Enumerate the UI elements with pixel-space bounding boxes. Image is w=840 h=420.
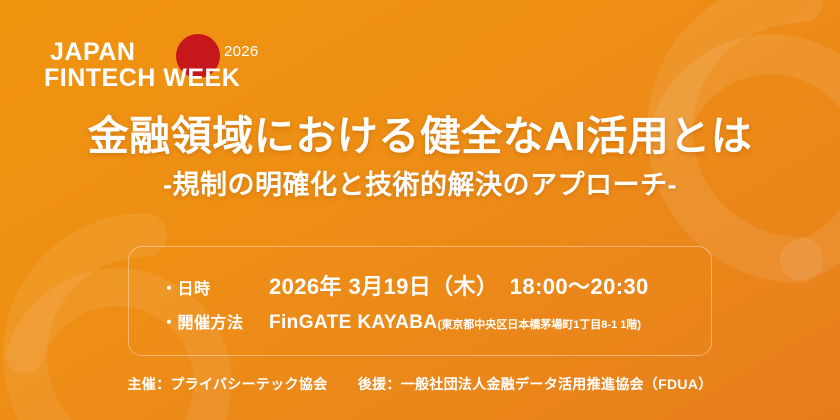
detail-label-venue: ・開催方法 [129,309,269,333]
japan-fintech-week-logo: JAPAN FINTECH WEEK 2026 [44,18,294,88]
footer-credits: 主催：プライバシーテック協会 後援：一般社団法人金融データ活用推進協会（FDUA… [0,374,840,394]
headline-block: 金融領域における健全なAI活用とは -規制の明確化と技術的解決のアプローチ- [0,112,840,202]
footer-organizer: 主催：プライバシーテック協会 [127,376,327,392]
logo-line-japan: JAPAN [50,40,135,65]
event-details-box: ・日時 2026年 3月19日（木） 18:00〜20:30 ・開催方法 Fin… [128,246,712,356]
logo-line-fintech-week: FINTECH WEEK [44,66,240,91]
event-poster: JAPAN FINTECH WEEK 2026 金融領域における健全なAI活用と… [0,0,840,420]
footer-supporter: 後援：一般社団法人金融データ活用推進協会（FDUA） [358,376,713,392]
detail-value-venue: FinGATE KAYABA [269,312,438,334]
page-title: 金融領域における健全なAI活用とは [0,112,840,160]
detail-row-venue: ・開催方法 FinGATE KAYABA (東京都中央区日本橋茅場町1丁目8-1… [129,309,711,334]
detail-value-venue-address: (東京都中央区日本橋茅場町1丁目8-1 1階) [438,316,642,332]
logo-year: 2026 [224,43,259,60]
detail-value-datetime: 2026年 3月19日（木） 18:00〜20:30 [269,269,649,301]
page-subtitle: -規制の明確化と技術的解決のアプローチ- [0,169,840,201]
detail-row-datetime: ・日時 2026年 3月19日（木） 18:00〜20:30 [129,269,711,301]
detail-label-datetime: ・日時 [129,275,269,299]
